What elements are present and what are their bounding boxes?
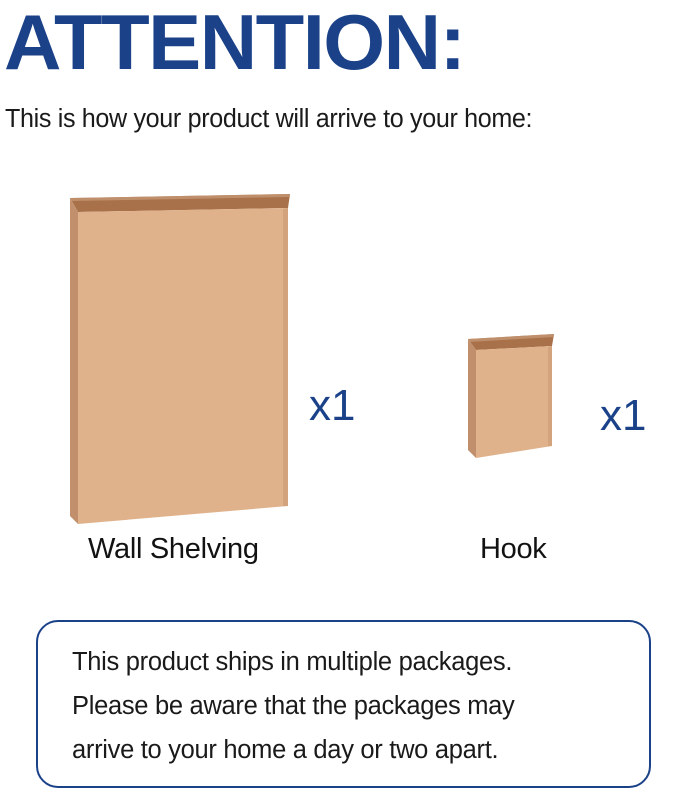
- package-illustrations: x1 Wall Shelving x1 Hook: [0, 150, 679, 590]
- multiple-packages-notice: This product ships in multiple packages.…: [36, 620, 651, 788]
- cardboard-box-icon: [458, 322, 568, 482]
- quantity-label-wall-shelving: x1: [309, 384, 355, 428]
- cardboard-box-icon: [55, 168, 295, 518]
- notice-line: arrive to your home a day or two apart.: [72, 728, 623, 772]
- page-subtitle: This is how your product will arrive to …: [5, 103, 532, 135]
- quantity-label-hook: x1: [600, 394, 646, 438]
- package-name-wall-shelving: Wall Shelving: [88, 532, 259, 566]
- package-name-hook: Hook: [480, 532, 547, 566]
- notice-line: Please be aware that the packages may: [72, 684, 623, 728]
- package-box-wall-shelving: [55, 168, 295, 518]
- page-title: ATTENTION:: [4, 0, 679, 90]
- package-box-hook: [458, 322, 568, 482]
- attention-shipping-page: ATTENTION: This is how your product will…: [0, 0, 679, 808]
- notice-line: This product ships in multiple packages.: [72, 640, 623, 684]
